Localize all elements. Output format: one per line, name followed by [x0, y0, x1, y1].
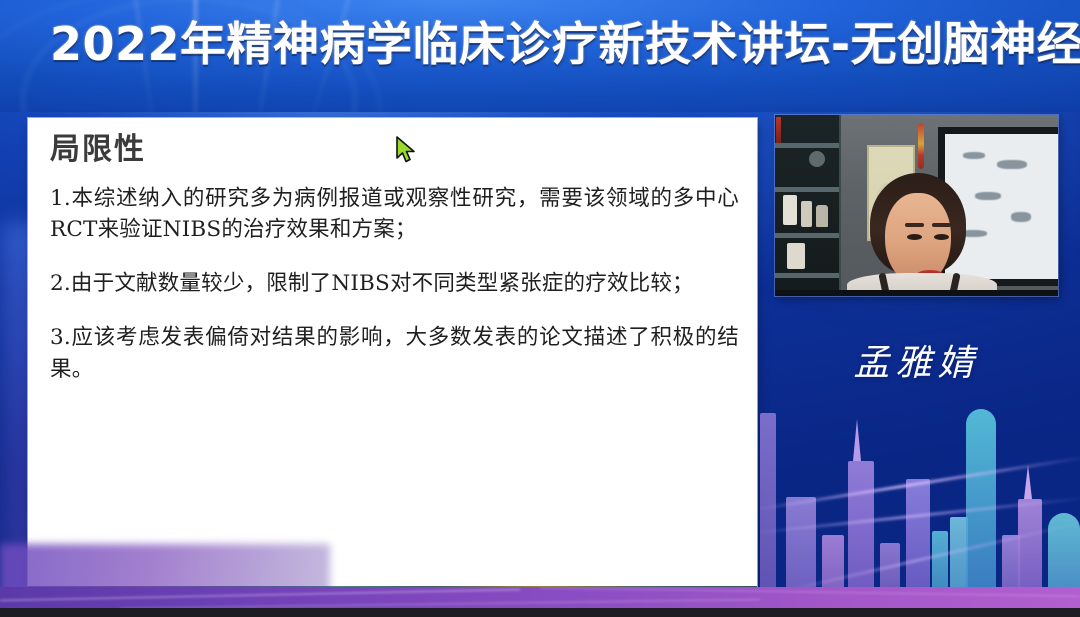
- whiteboard-mark: [963, 152, 985, 159]
- shelf-red-object: [776, 117, 781, 143]
- skyline-spire: [1024, 465, 1032, 499]
- presenter-eye: [907, 234, 922, 240]
- shelf-board: [775, 143, 839, 148]
- slide-body: 1.本综述纳入的研究多为病例报道或观察性研究，需要该领域的多中心RCT来验证NI…: [50, 183, 739, 386]
- city-skyline-graphic: [760, 394, 1080, 609]
- video-bookshelf: [775, 115, 841, 296]
- slide-heading: 局限性: [50, 130, 739, 171]
- slide-paragraph-3: 3.应该考虑发表偏倚对结果的影响，大多数发表的论文描述了积极的结果。: [50, 322, 739, 386]
- whiteboard-mark: [997, 160, 1027, 169]
- video-letterbox-bar: [775, 290, 1058, 296]
- presenter-eyebrow: [905, 223, 924, 227]
- shelf-item: [783, 195, 797, 225]
- presenter-video-tile[interactable]: [775, 115, 1058, 296]
- presenter-eye: [934, 234, 949, 240]
- skyline-building: [760, 413, 776, 609]
- presenter-eyebrow: [932, 223, 951, 227]
- slide-content: 局限性 1.本综述纳入的研究多为病例报道或观察性研究，需要该领域的多中心RCT来…: [50, 130, 739, 386]
- shelf-item: [816, 205, 828, 227]
- presenter-name: 孟雅婧: [775, 334, 1058, 386]
- shelf-item: [801, 201, 812, 227]
- wall-tassel-ornament: [918, 123, 924, 169]
- shelf-board: [775, 233, 839, 238]
- skyline-spire: [853, 419, 861, 461]
- shelf-item: [809, 151, 825, 167]
- webinar-screen: 2022年精神病学临床诊疗新技术讲坛-无创脑神经调控 局限性 1.本综述纳入的研…: [0, 0, 1080, 617]
- whiteboard-mark: [975, 192, 1001, 200]
- event-title: 2022年精神病学临床诊疗新技术讲坛-无创脑神经调控: [50, 17, 1050, 71]
- shelf-board: [775, 187, 839, 192]
- shelf-board: [775, 273, 839, 278]
- presenter-face: [885, 193, 951, 285]
- bottom-edge-bar: [0, 608, 1080, 617]
- band-streak: [0, 589, 520, 602]
- slide-panel: 局限性 1.本综述纳入的研究多为病例报道或观察性研究，需要该领域的多中心RCT来…: [28, 118, 757, 589]
- slide-paragraph-1: 1.本综述纳入的研究多为病例报道或观察性研究，需要该领域的多中心RCT来验证NI…: [50, 183, 739, 247]
- shelf-item: [787, 243, 805, 269]
- band-streak: [540, 587, 1080, 597]
- slide-paragraph-2: 2.由于文献数量较少，限制了NIBS对不同类型紧张症的疗效比较；: [50, 268, 739, 300]
- whiteboard-mark: [1011, 212, 1031, 222]
